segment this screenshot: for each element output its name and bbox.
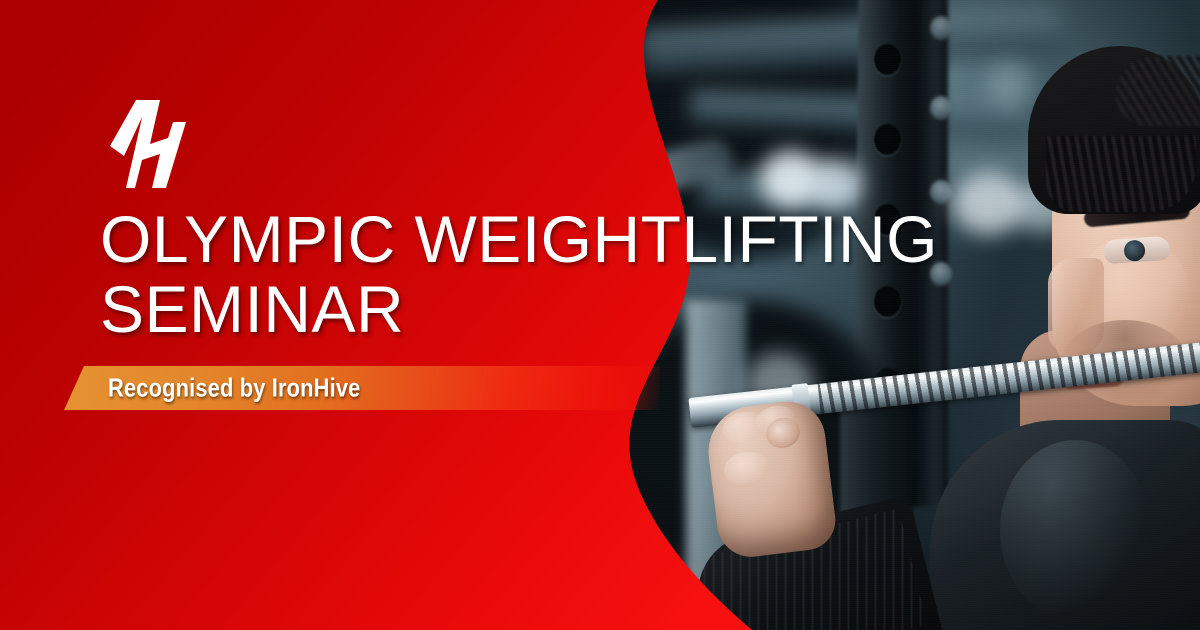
page-title: OLYMPIC WEIGHTLIFTING SEMINAR	[100, 204, 1180, 344]
ribbon-label: Recognised by IronHive	[108, 373, 409, 404]
ribbon-label-text: Recognised by IronHive	[108, 373, 360, 404]
headline-line-2: SEMINAR	[100, 274, 1180, 344]
headline-line-1: OLYMPIC WEIGHTLIFTING	[100, 202, 938, 276]
lightning-h-icon	[104, 98, 188, 190]
brand-logo[interactable]	[104, 98, 188, 190]
recognition-ribbon: Recognised by IronHive	[64, 366, 660, 410]
promo-banner: OLYMPIC WEIGHTLIFTING SEMINAR Recognised…	[0, 0, 1200, 630]
